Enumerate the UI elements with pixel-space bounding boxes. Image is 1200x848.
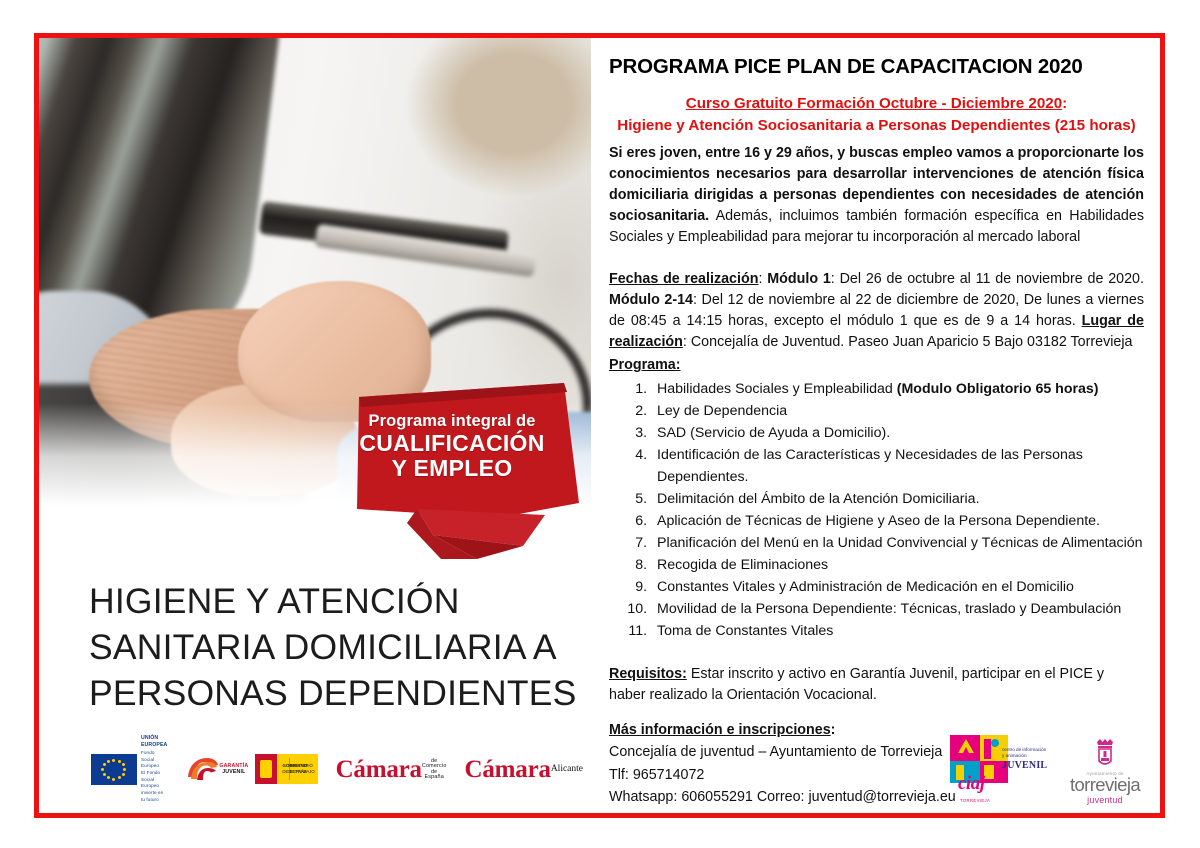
program-item-text: Ley de Dependencia bbox=[657, 403, 787, 419]
program-item-text: SAD (Servicio de Ayuda a Domicilio). bbox=[657, 425, 890, 441]
course-heading-colon: : bbox=[1062, 95, 1067, 112]
banner-line-2: CUALIFICACIÓN bbox=[345, 431, 559, 456]
page-title: PROGRAMA PICE PLAN DE CAPACITACION 2020 bbox=[609, 55, 1144, 79]
module1-label: Módulo 1 bbox=[767, 271, 831, 287]
headline-line-1: HIGIENE Y ATENCIÓN bbox=[89, 578, 584, 624]
right-logo-strip: centro de información y animación JUVENI… bbox=[950, 733, 1148, 805]
list-item: Identificación de las Características y … bbox=[651, 444, 1144, 488]
logo-garantia-juvenil: GARANTÍA JUVENIL bbox=[185, 757, 237, 781]
program-item-bold: (Modulo Obligatorio 65 horas) bbox=[897, 381, 1099, 397]
list-item: Ley de Dependencia bbox=[651, 400, 1144, 422]
module2-label: Módulo 2-14 bbox=[609, 292, 693, 308]
ciaj-juvenil-word: JUVENIL bbox=[1002, 759, 1048, 773]
list-item: Delimitación del Ámbito de la Atención D… bbox=[651, 488, 1144, 510]
intro-paragraph: Si eres joven, entre 16 y 29 años, y bus… bbox=[609, 143, 1144, 247]
logo-ciaj: centro de información y animación JUVENI… bbox=[950, 733, 1046, 805]
program-list: Habilidades Sociales y Empleabilidad (Mo… bbox=[609, 378, 1144, 642]
ministerio-line-1: MINISTERIO bbox=[288, 763, 314, 769]
requirements-label: Requisitos: bbox=[609, 666, 687, 682]
torrevieja-crest-icon bbox=[1088, 735, 1122, 769]
eu-flag-icon bbox=[91, 754, 137, 785]
program-item-text: Movilidad de la Persona Dependiente: Téc… bbox=[657, 601, 1121, 617]
headline-line-3: PERSONAS DEPENDIENTES bbox=[89, 670, 584, 716]
eu-logo-line-2: El Fondo Social Europeo bbox=[141, 770, 167, 790]
dates-sep: : bbox=[758, 271, 767, 287]
module1-text: : Del 26 de octubre al 11 de noviembre d… bbox=[831, 271, 1144, 287]
right-text-panel: PROGRAMA PICE PLAN DE CAPACITACION 2020 … bbox=[591, 38, 1160, 813]
course-heading-line-1: Curso Gratuito Formación Octubre - Dicie… bbox=[686, 95, 1062, 112]
logo-camara-espana: Cámara de Comercio de España bbox=[336, 757, 447, 782]
camara-espana-wordmark: Cámara bbox=[336, 757, 422, 782]
list-item: Constantes Vitales y Administración de M… bbox=[651, 576, 1144, 598]
ciaj-caption: centro de información y animación JUVENI… bbox=[1002, 747, 1048, 773]
more-info-label: Más información e inscripciones bbox=[609, 722, 831, 738]
list-item: SAD (Servicio de Ayuda a Domicilio). bbox=[651, 422, 1144, 444]
camara-alicante-subtitle: Alicante bbox=[551, 765, 583, 775]
garantia-juvenil-text: GARANTÍA JUVENIL bbox=[219, 763, 248, 775]
course-heading-line-2: Higiene y Atención Sociosanitaria a Pers… bbox=[609, 115, 1144, 137]
garantia-juvenil-line-2: JUVENIL bbox=[219, 769, 248, 775]
cualificacion-empleo-banner: Programa integral de CUALIFICACIÓN Y EMP… bbox=[345, 383, 591, 559]
list-item: Planificación del Menú en la Unidad Conv… bbox=[651, 532, 1144, 554]
spacer-2 bbox=[609, 642, 1144, 657]
banner-line-3: Y EMPLEO bbox=[345, 456, 559, 481]
list-item: Recogida de Eliminaciones bbox=[651, 554, 1144, 576]
logo-camara-alicante: Cámara Alicante bbox=[465, 757, 583, 782]
program-label: Programa: bbox=[609, 357, 681, 373]
logo-gobierno-de-espana: GOBIERNO DE ESPAÑA MINISTERIO DE TRABAJO bbox=[255, 754, 317, 784]
eu-logo-text: UNIÓN EUROPEA Fondo Social Europeo El Fo… bbox=[141, 735, 167, 803]
poster-headline: HIGIENE Y ATENCIÓN SANITARIA DOMICILIARI… bbox=[89, 578, 584, 716]
list-item: Movilidad de la Persona Dependiente: Téc… bbox=[651, 598, 1144, 620]
program-item-text: Constantes Vitales y Administración de M… bbox=[657, 579, 1074, 595]
eu-logo-line-1: Fondo Social Europeo bbox=[141, 750, 167, 770]
ciaj-tiny-text: TORREVIEJA bbox=[960, 798, 990, 803]
course-red-heading: Curso Gratuito Formación Octubre - Dicie… bbox=[609, 93, 1144, 136]
sponsor-logo-strip: UNIÓN EUROPEA Fondo Social Europeo El Fo… bbox=[91, 743, 583, 795]
program-item-text: Delimitación del Ámbito de la Atención D… bbox=[657, 491, 980, 507]
program-item-text: Aplicación de Técnicas de Higiene y Aseo… bbox=[657, 513, 1100, 529]
camara-espana-subtitle: de Comercio de España bbox=[422, 759, 447, 781]
eu-logo-title: UNIÓN EUROPEA bbox=[141, 735, 167, 750]
poster-frame: Programa integral de CUALIFICACIÓN Y EMP… bbox=[34, 33, 1165, 818]
torrevieja-wordmark: torrevieja bbox=[1062, 776, 1148, 795]
spacer-3 bbox=[609, 705, 1144, 720]
program-item-text: Recogida de Eliminaciones bbox=[657, 557, 828, 573]
eu-logo-line-3: invierte en tu futuro bbox=[141, 790, 167, 803]
program-item-text: Habilidades Sociales y Empleabilidad bbox=[657, 381, 897, 397]
escudo-espana-icon bbox=[255, 754, 277, 784]
program-item-text: Identificación de las Características y … bbox=[657, 447, 1083, 485]
torrevieja-subtitle: juventud bbox=[1062, 795, 1148, 805]
garantia-juvenil-swoosh-icon bbox=[185, 757, 219, 781]
logo-torrevieja-juventud: Ayuntamiento de torrevieja juventud bbox=[1062, 735, 1148, 806]
ciaj-caption-text: centro de información y animación bbox=[1002, 747, 1048, 759]
program-label-paragraph: Programa: bbox=[609, 355, 1144, 376]
place-text: : Concejalía de Juventud. Paseo Juan Apa… bbox=[683, 334, 1133, 350]
logo-union-europea: UNIÓN EUROPEA Fondo Social Europeo El Fo… bbox=[91, 735, 167, 803]
headline-line-2: SANITARIA DOMICILIARIA A bbox=[89, 624, 584, 670]
ministerio-text-right: MINISTERIO DE TRABAJO bbox=[288, 763, 314, 775]
ciaj-wordmark: ciaj bbox=[958, 773, 985, 795]
list-item: Aplicación de Técnicas de Higiene y Aseo… bbox=[651, 510, 1144, 532]
dates-paragraph: Fechas de realización: Módulo 1: Del 26 … bbox=[609, 269, 1144, 352]
banner-text-block: Programa integral de CUALIFICACIÓN Y EMP… bbox=[345, 413, 559, 480]
left-image-panel: Programa integral de CUALIFICACIÓN Y EMP… bbox=[39, 38, 591, 813]
ministerio-line-2: DE TRABAJO bbox=[288, 769, 314, 775]
dates-label: Fechas de realización bbox=[609, 271, 758, 287]
spacer-1 bbox=[609, 247, 1144, 262]
banner-line-1: Programa integral de bbox=[345, 413, 559, 431]
list-item: Toma de Constantes Vitales bbox=[651, 620, 1144, 642]
program-item-text: Toma de Constantes Vitales bbox=[657, 623, 833, 639]
requirements-paragraph: Requisitos: Estar inscrito y activo en G… bbox=[609, 664, 1144, 706]
more-info-colon: : bbox=[831, 722, 836, 738]
list-item: Habilidades Sociales y Empleabilidad (Mo… bbox=[651, 378, 1144, 400]
program-item-text: Planificación del Menú en la Unidad Conv… bbox=[657, 535, 1143, 551]
camara-alicante-wordmark: Cámara bbox=[465, 757, 551, 782]
